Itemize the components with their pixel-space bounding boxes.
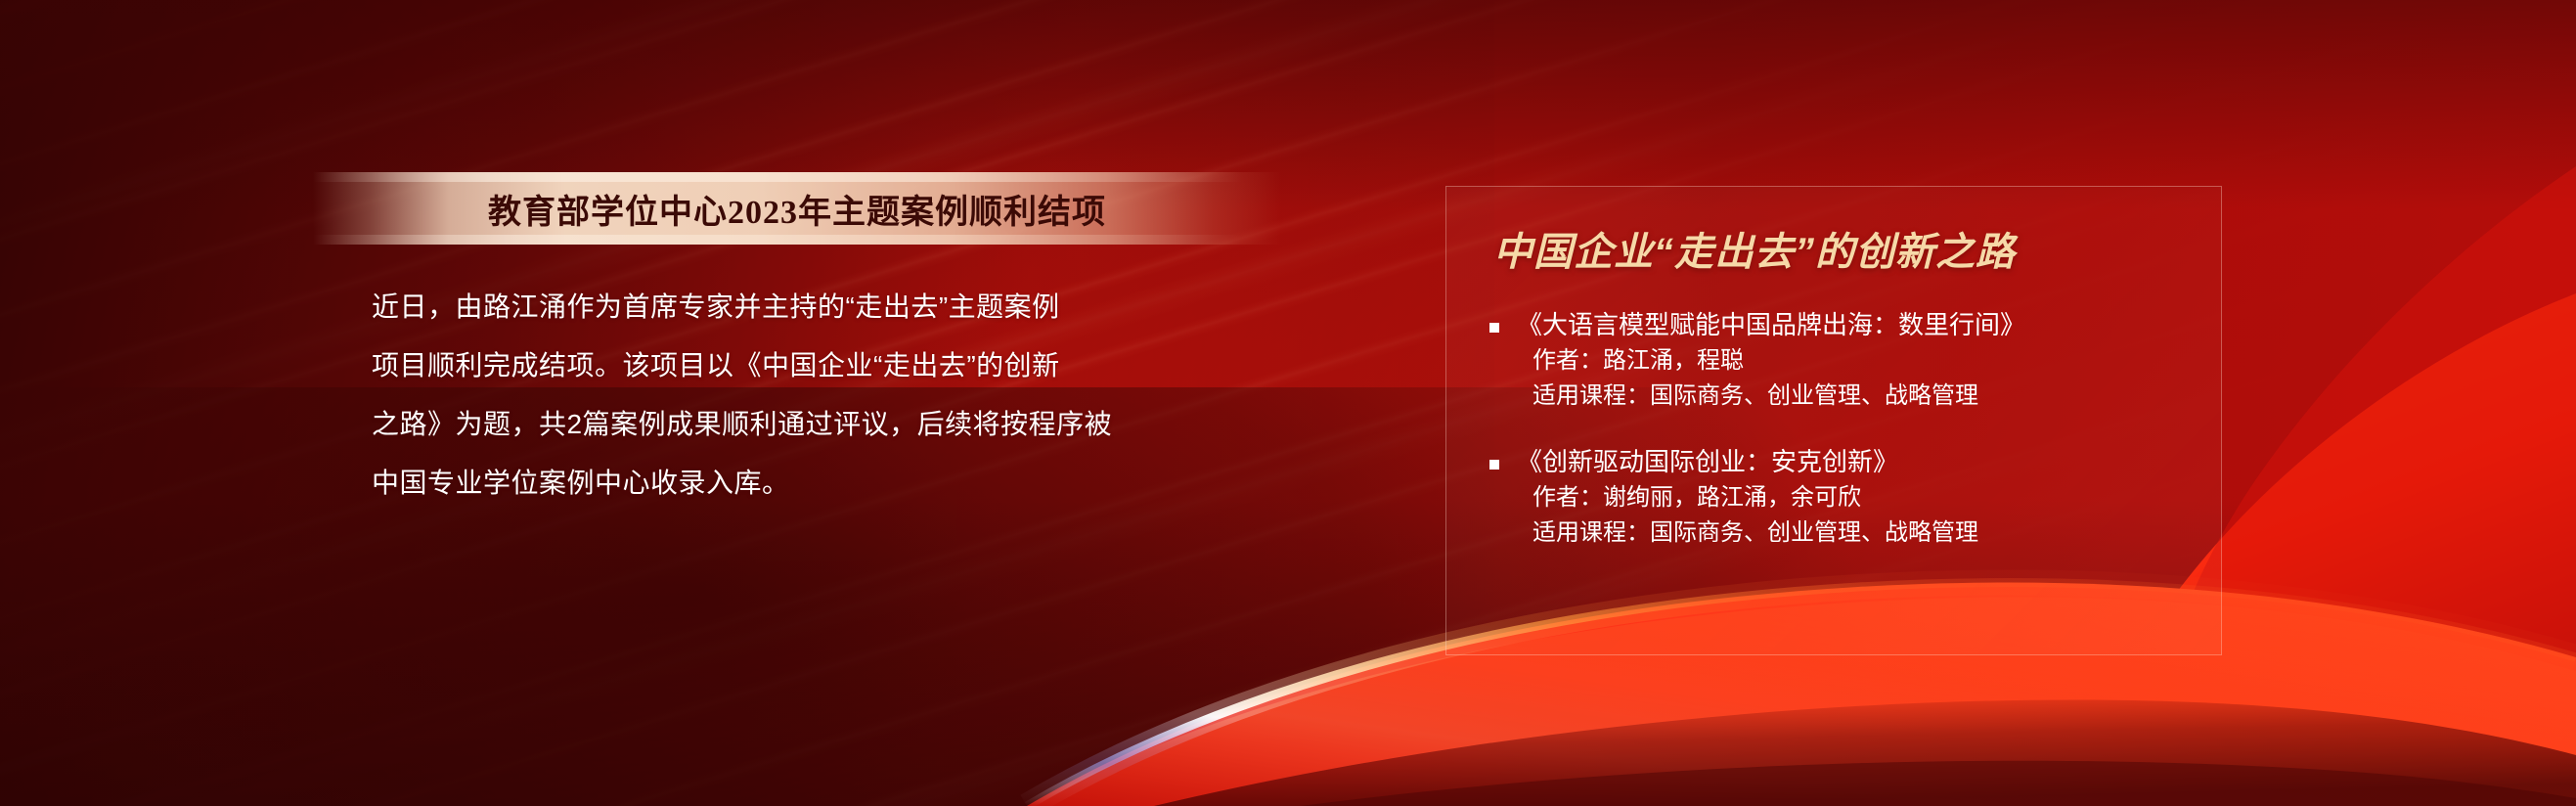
paragraph-line: 项目顺利完成结项。该项目以《中国企业“走出去”的创新: [372, 336, 1252, 395]
case-authors: 作者：谢绚丽，路江涌，余可欣: [1517, 480, 1978, 515]
case-list: 《大语言模型赋能中国品牌出海：数里行间》 作者：路江涌，程聪 适用课程：国际商务…: [1446, 306, 2221, 551]
case-title: 《大语言模型赋能中国品牌出海：数里行间》: [1517, 306, 2025, 343]
left-content-column: 教育部学位中心2023年主题案例顺利结项 近日，由路江涌作为首席专家并主持的“走…: [372, 172, 1310, 513]
list-item: 《大语言模型赋能中国品牌出海：数里行间》 作者：路江涌，程聪 适用课程：国际商务…: [1489, 306, 2221, 414]
case-courses: 适用课程：国际商务、创业管理、战略管理: [1517, 379, 2025, 414]
square-bullet-icon: [1489, 323, 1499, 333]
case-title: 《创新驱动国际创业：安克创新》: [1517, 443, 1978, 480]
page-title: 教育部学位中心2023年主题案例顺利结项: [488, 185, 1106, 233]
paragraph-line: 之路》为题，共2篇案例成果顺利通过评议，后续将按程序被: [372, 395, 1252, 454]
headline-banner: 教育部学位中心2023年主题案例顺利结项: [313, 172, 1281, 245]
case-list-panel: 中国企业“走出去”的创新之路 《大语言模型赋能中国品牌出海：数里行间》 作者：路…: [1445, 186, 2222, 655]
case-authors: 作者：路江涌，程聪: [1517, 343, 2025, 379]
paragraph-line: 近日，由路江涌作为首席专家并主持的“走出去”主题案例: [372, 278, 1252, 336]
paragraph-line: 中国专业学位案例中心收录入库。: [372, 454, 1252, 513]
article-paragraph: 近日，由路江涌作为首席专家并主持的“走出去”主题案例 项目顺利完成结项。该项目以…: [372, 278, 1252, 513]
poster-canvas: 教育部学位中心2023年主题案例顺利结项 近日，由路江涌作为首席专家并主持的“走…: [0, 0, 2576, 806]
case-courses: 适用课程：国际商务、创业管理、战略管理: [1517, 515, 1978, 551]
case-body: 《大语言模型赋能中国品牌出海：数里行间》 作者：路江涌，程聪 适用课程：国际商务…: [1517, 306, 2025, 414]
panel-title: 中国企业“走出去”的创新之路: [1493, 220, 2221, 277]
list-item: 《创新驱动国际创业：安克创新》 作者：谢绚丽，路江涌，余可欣 适用课程：国际商务…: [1489, 443, 2221, 551]
case-body: 《创新驱动国际创业：安克创新》 作者：谢绚丽，路江涌，余可欣 适用课程：国际商务…: [1517, 443, 1978, 551]
square-bullet-icon: [1489, 460, 1499, 470]
